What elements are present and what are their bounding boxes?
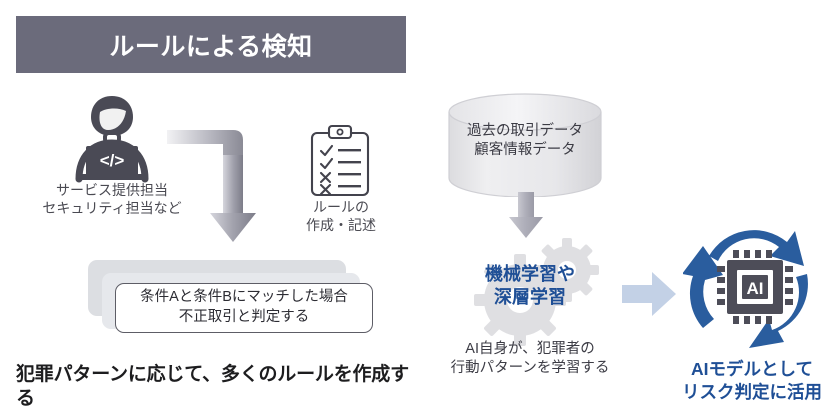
ai-chip-cycle-icon: AI	[683, 218, 825, 354]
ai-chip-icon: AI	[717, 250, 793, 324]
panel-left-header: ルールによる検知	[16, 16, 406, 73]
learning-caption: AI自身が、犯罪者の 行動パターンを学習する	[440, 340, 620, 378]
figure-canvas: ルールによる検知 </> サービス提供担当 セキュリティ担当など	[0, 0, 840, 420]
right-arrow	[622, 270, 678, 318]
clipboard-checklist-icon	[305, 124, 375, 198]
learning-label: 機械学習や 深層学習	[455, 263, 605, 310]
rule-card-front: 条件Aと条件Bにマッチした場合 不正取引と判定する	[115, 283, 373, 333]
right-conclusion-text: AIモデルとして リスク判定に活用	[664, 358, 840, 404]
rule-card-text: 条件Aと条件Bにマッチした場合 不正取引と判定する	[140, 288, 348, 327]
left-conclusion-text: 犯罪パターンに応じて、多くのルールを作成する	[16, 363, 420, 412]
down-arrow	[506, 192, 546, 240]
developer-person-icon: </>	[62, 86, 162, 186]
panel-rule-based-detection: ルールによる検知 </> サービス提供担当 セキュリティ担当など	[0, 0, 420, 420]
clipboard-caption: ルールの 作成・記述	[292, 199, 390, 235]
elbow-down-arrow	[167, 125, 277, 250]
code-glyph: </>	[100, 151, 125, 170]
database-label: 過去の取引データ 顧客情報データ	[443, 122, 607, 160]
chip-ai-text: AI	[747, 279, 764, 298]
